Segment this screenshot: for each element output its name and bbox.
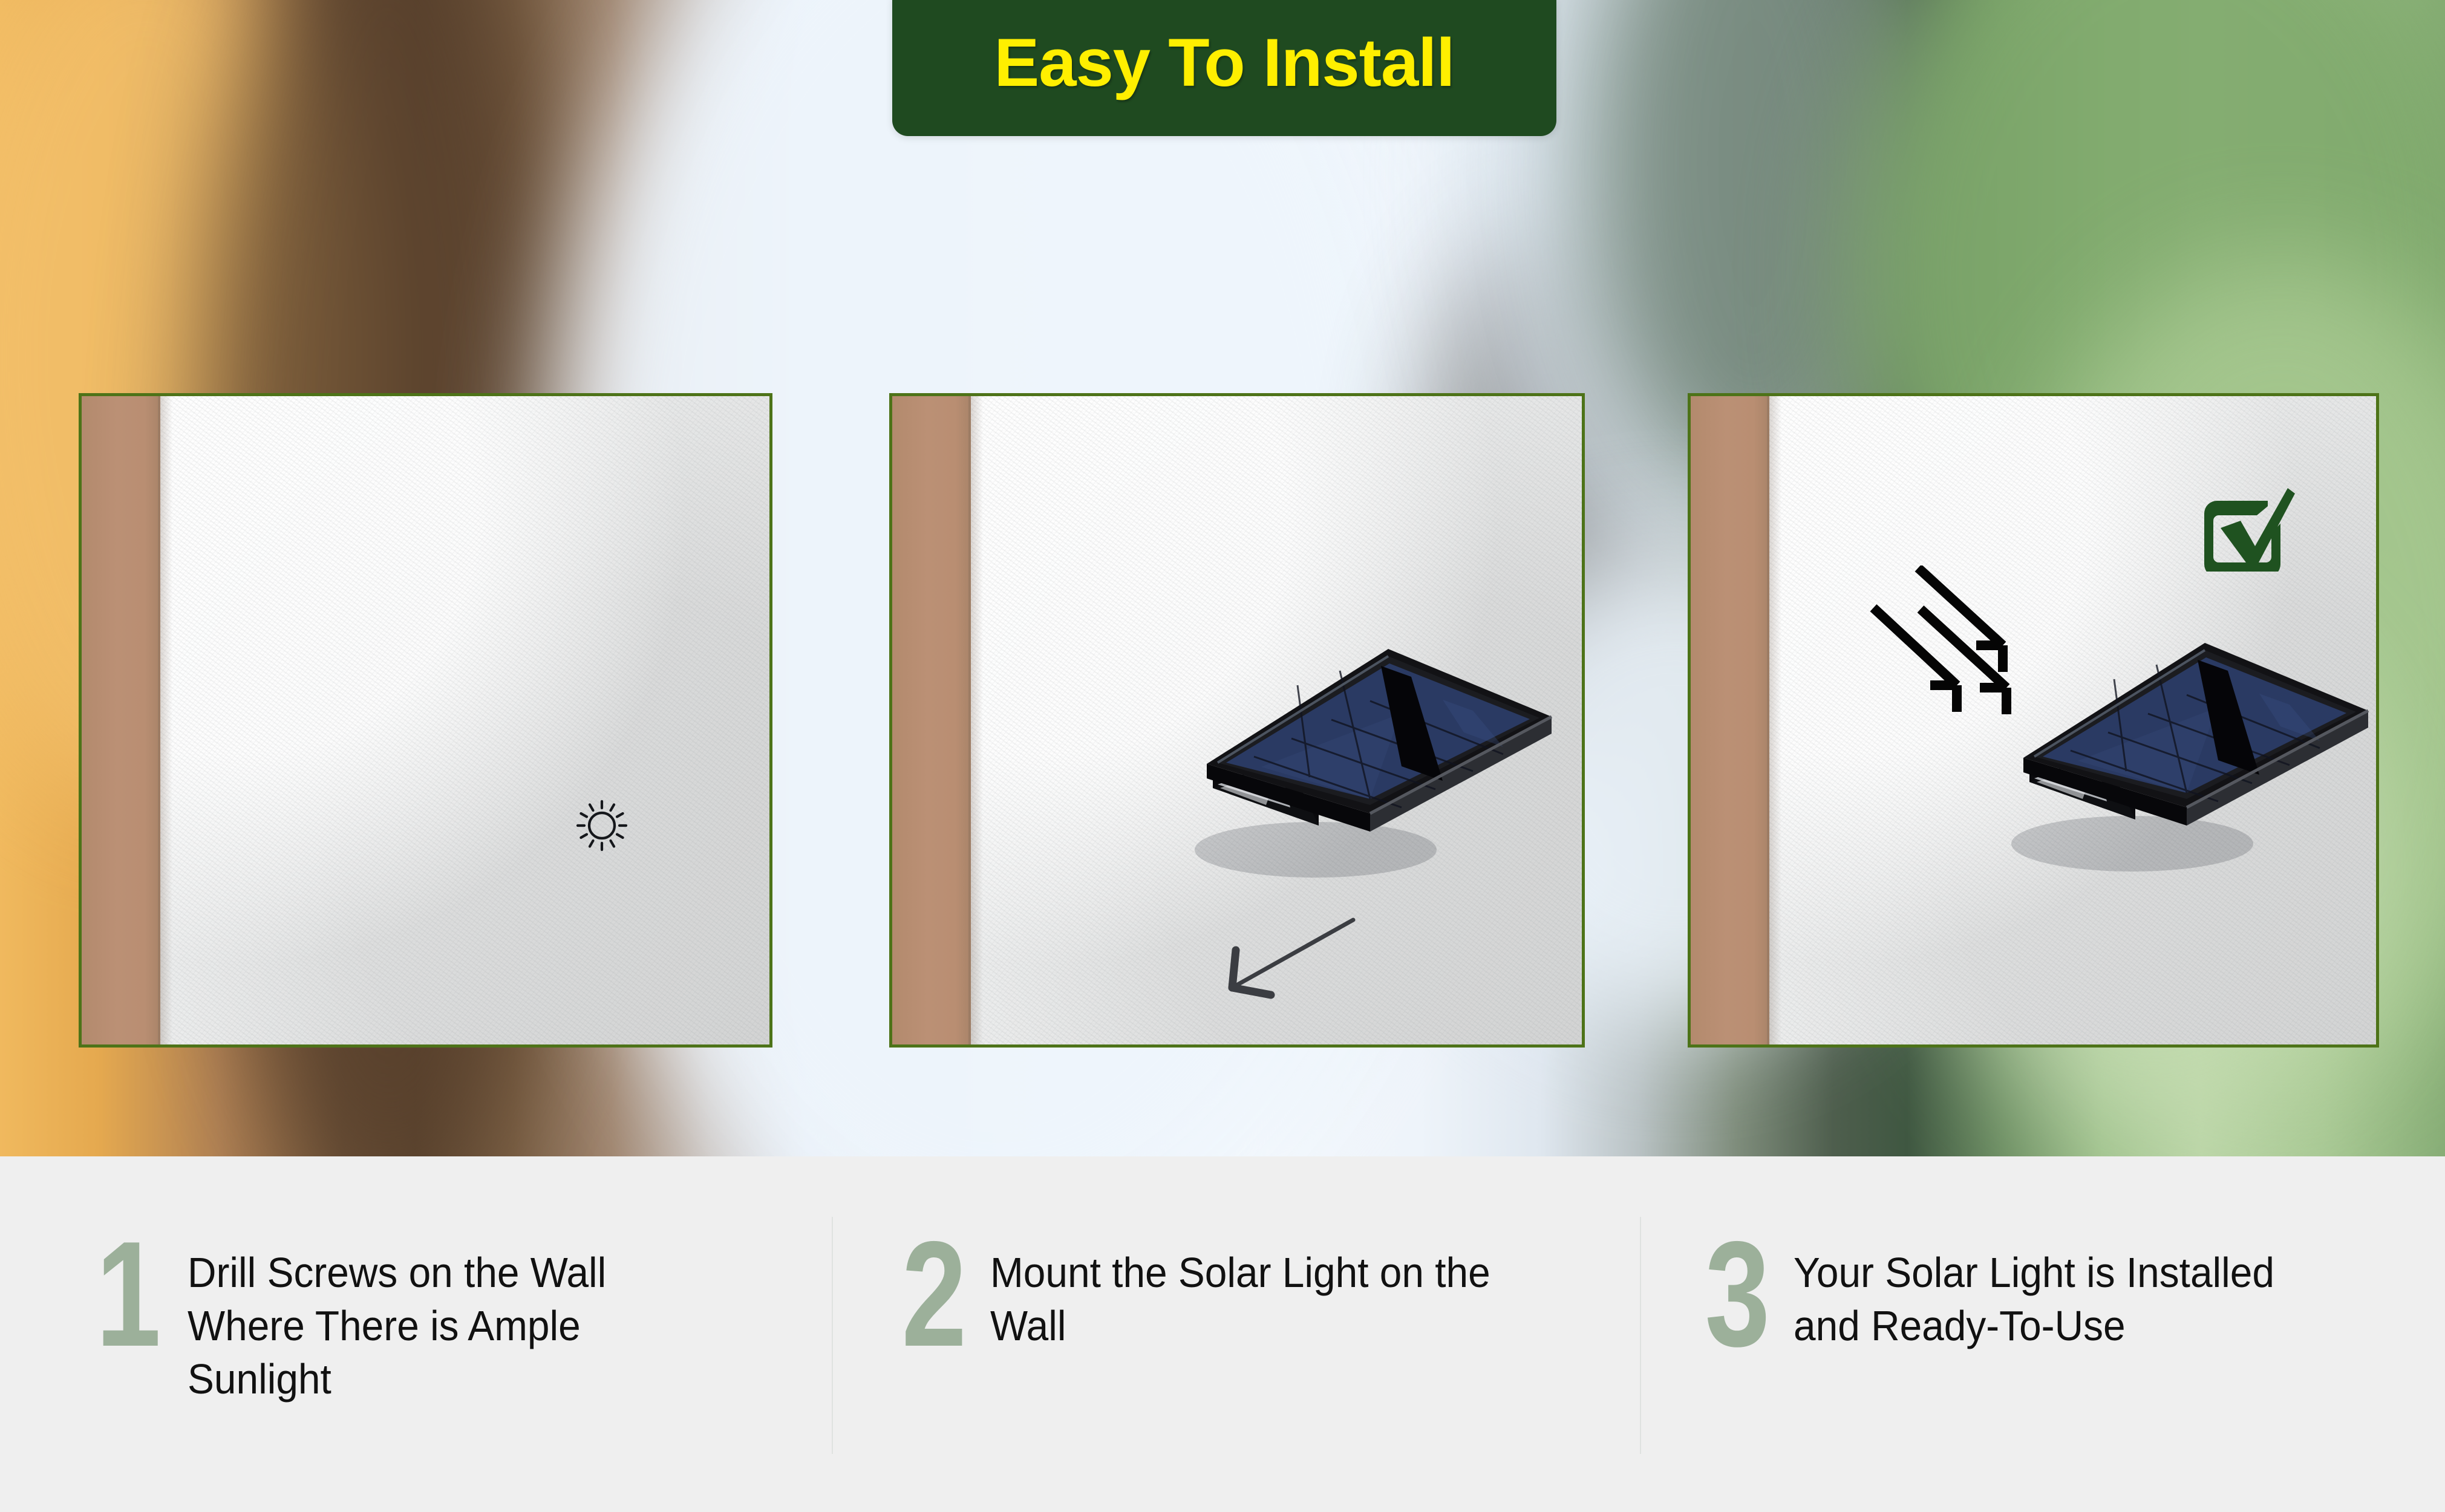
wall-column-strip [82, 396, 160, 1044]
step-text-2: Mount the Solar Light on the Wall [990, 1233, 1536, 1352]
step-text-1: Drill Screws on the Wall Where There is … [188, 1233, 733, 1406]
solar-light-product [2005, 620, 2379, 886]
pointer-arrow-icon [1219, 916, 1358, 1013]
solar-light-product [1189, 626, 1564, 892]
step-number-1: 1 [80, 1233, 174, 1355]
check-icon [2199, 481, 2299, 572]
header-banner: Easy To Install [892, 0, 1556, 136]
wall-column-strip [1691, 396, 1769, 1044]
sun-icon [572, 795, 632, 856]
step-item-2: 2 Mount the Solar Light on the Wall [833, 1156, 1642, 1512]
step-item-3: 3 Your Solar Light is Installed and Read… [1641, 1156, 2445, 1512]
step-number-3: 3 [1691, 1233, 1781, 1355]
step-item-1: 1 Drill Screws on the Wall Where There i… [0, 1156, 833, 1512]
step-image-panel-3 [1688, 393, 2379, 1048]
steps-band: 1 Drill Screws on the Wall Where There i… [0, 1156, 2445, 1512]
step-image-panel-1 [79, 393, 772, 1048]
step-number-2: 2 [888, 1233, 978, 1355]
step-text-3: Your Solar Light is Installed and Ready-… [1794, 1233, 2339, 1352]
wall-surface [82, 396, 769, 1044]
installation-infographic: Easy To Install [0, 0, 2445, 1512]
banner-title: Easy To Install [994, 29, 1455, 104]
step-image-panel-2 [889, 393, 1585, 1048]
wall-column-strip [892, 396, 971, 1044]
